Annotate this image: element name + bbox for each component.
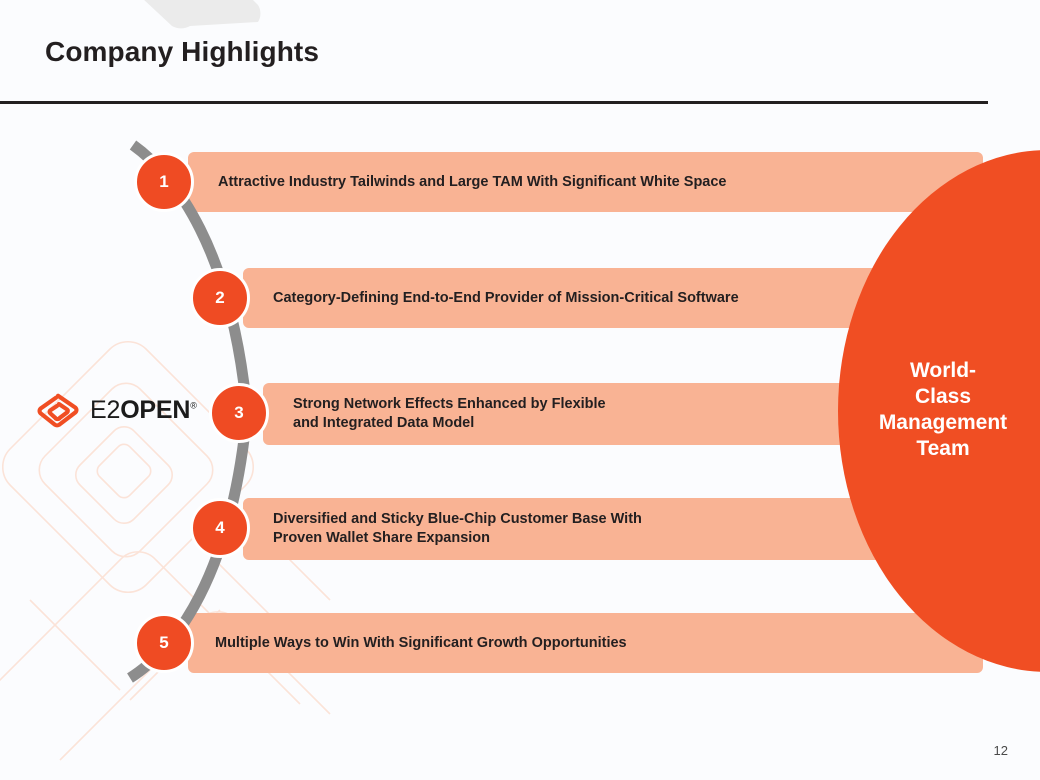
management-team-line-2: Class [862, 384, 1024, 410]
e2open-wordmark-e2: E2 [90, 396, 120, 424]
highlight-number-3[interactable]: 3 [209, 383, 269, 443]
page-number: 12 [994, 743, 1008, 758]
registered-trademark-icon: ® [190, 400, 196, 410]
slide-canvas: Company Highlights Attractive Industry T… [0, 0, 1040, 780]
e2open-wordmark: E2OPEN® [90, 398, 197, 423]
management-team-line-3: Management [862, 410, 1024, 436]
highlight-number-2-label: 2 [215, 288, 224, 308]
highlight-number-5-label: 5 [159, 633, 168, 653]
management-team-line-4: Team [862, 436, 1024, 462]
highlight-number-4[interactable]: 4 [190, 498, 250, 558]
highlight-number-5[interactable]: 5 [134, 613, 194, 673]
highlight-number-3-label: 3 [234, 403, 243, 423]
e2open-wordmark-open: OPEN [120, 396, 190, 424]
highlight-number-2[interactable]: 2 [190, 268, 250, 328]
e2open-mark-icon [35, 392, 81, 428]
e2open-logo: E2OPEN® [35, 392, 197, 428]
management-team-label: World- Class Management Team [862, 358, 1024, 462]
highlight-number-1-label: 1 [159, 172, 168, 192]
management-team-line-1: World- [862, 358, 1024, 384]
highlight-number-4-label: 4 [215, 518, 224, 538]
highlight-number-1[interactable]: 1 [134, 152, 194, 212]
